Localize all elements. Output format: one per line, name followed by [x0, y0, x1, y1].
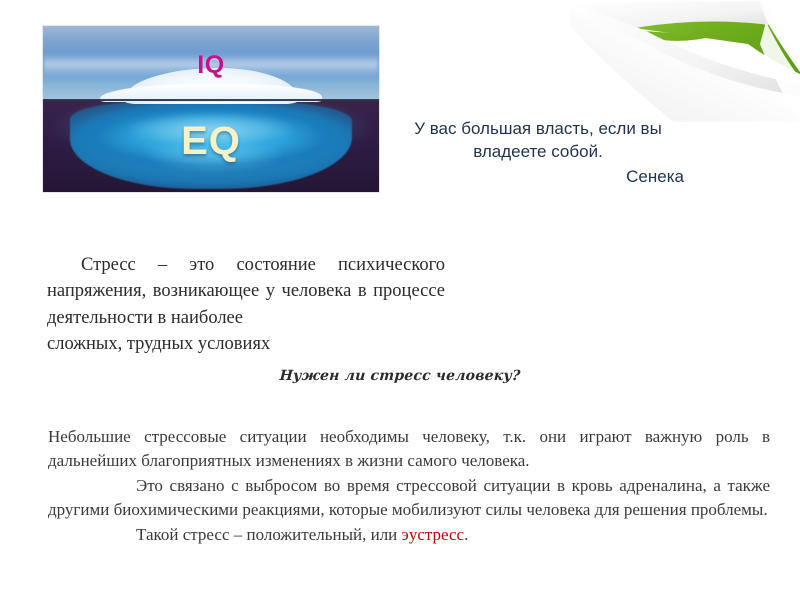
quote-block: У вас большая власть, если вы владеете с…	[392, 118, 684, 189]
quote-line-1: У вас большая власть, если вы	[414, 119, 662, 138]
definition-main: Стресс – это состояние психического напр…	[47, 255, 445, 328]
definition-paragraph: Стресс – это состояние психического напр…	[47, 252, 445, 357]
body-paragraph-3-prefix: Такой стресс – положительный, или	[136, 525, 402, 544]
eustress-term: эустресс	[402, 525, 465, 544]
body-paragraph-2: Это связано с выбросом во время стрессов…	[48, 474, 770, 523]
iq-label: IQ	[43, 51, 379, 80]
eq-label: EQ	[43, 119, 379, 164]
body-paragraph-3-suffix: .	[464, 525, 468, 544]
quote-line-2: владеете собой.	[473, 142, 603, 161]
body-paragraph-3: Такой стресс – положительный, или эустре…	[48, 523, 770, 547]
waterline	[43, 99, 379, 101]
definition-tail: сложных, трудных условиях	[47, 331, 445, 357]
body-paragraph-1: Небольшие стрессовые ситуации необходимы…	[48, 425, 770, 474]
body-text-block: Небольшие стрессовые ситуации необходимы…	[48, 425, 770, 547]
slide-canvas: IQ EQ У вас большая власть, если вы влад…	[0, 0, 800, 600]
question-heading: Нужен ли стресс человеку?	[0, 368, 800, 384]
iceberg-iq-eq-image: IQ EQ	[43, 26, 379, 192]
peeled-corner-decoration	[570, 0, 800, 122]
quote-author: Сенека	[392, 166, 684, 189]
